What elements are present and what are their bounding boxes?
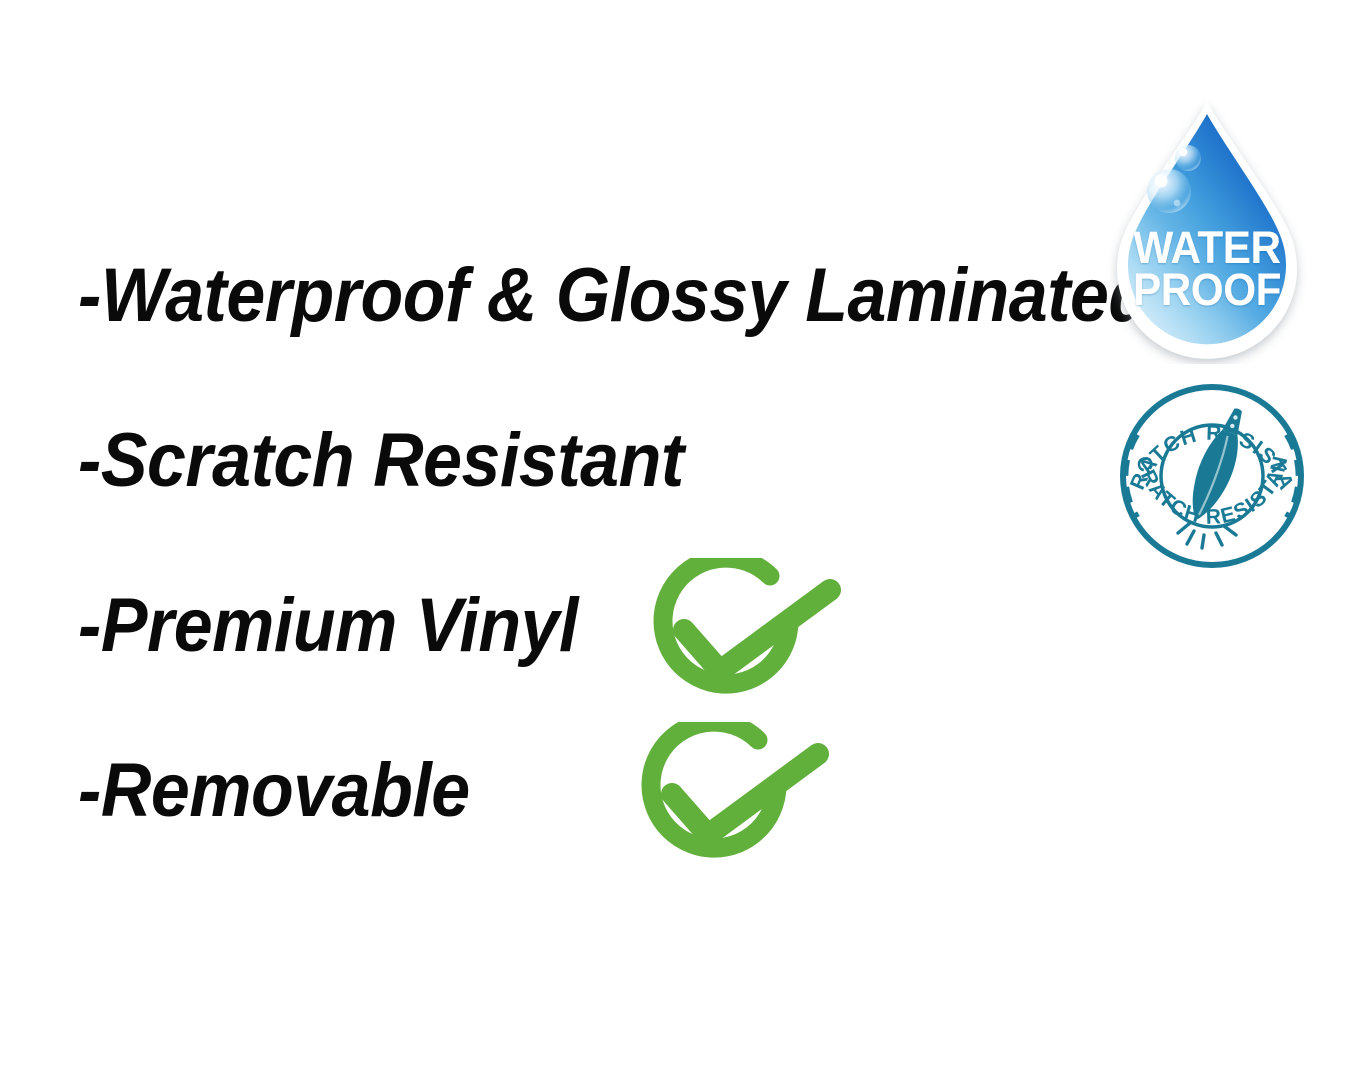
feature-item-waterproof-glossy-laminated: -Waterproof & Glossy Laminated bbox=[78, 258, 1151, 334]
waterproof-badge: WATER PROOF bbox=[1098, 96, 1316, 364]
feature-item-premium-vinyl: -Premium Vinyl bbox=[78, 588, 578, 664]
feature-item-removable: -Removable bbox=[78, 753, 470, 829]
feature-item-scratch-resistant: -Scratch Resistant bbox=[78, 423, 684, 499]
circle-check-icon bbox=[642, 558, 842, 713]
feature-list-graphic: -Waterproof & Glossy Laminated -Scratch … bbox=[0, 0, 1359, 1080]
feature-list: -Waterproof & Glossy Laminated -Scratch … bbox=[0, 0, 1120, 1080]
circle-check-icon bbox=[630, 722, 830, 877]
scratch-resistant-badge: SCRATCH RESISTANT SCRATCH RESISTANT bbox=[1112, 383, 1312, 569]
